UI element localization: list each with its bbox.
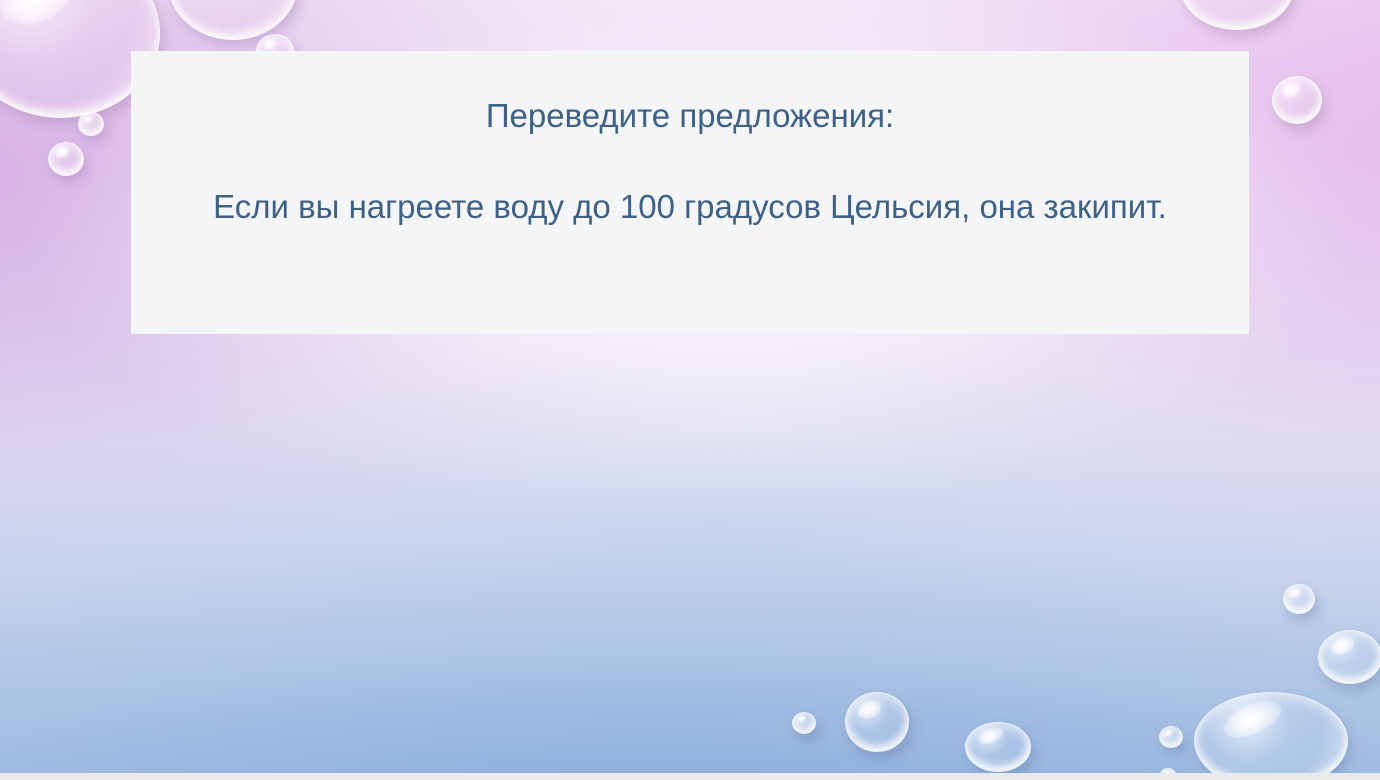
content-text-box: Переведите предложения: Если вы нагреете…: [131, 51, 1249, 334]
instruction-line: Переведите предложения:: [179, 95, 1201, 138]
text-spacer: [179, 138, 1201, 186]
presentation-slide: Переведите предложения: Если вы нагреете…: [0, 0, 1380, 780]
bottom-strip: [0, 773, 1380, 780]
sentence-line: Если вы нагреете воду до 100 градусов Це…: [179, 186, 1201, 229]
